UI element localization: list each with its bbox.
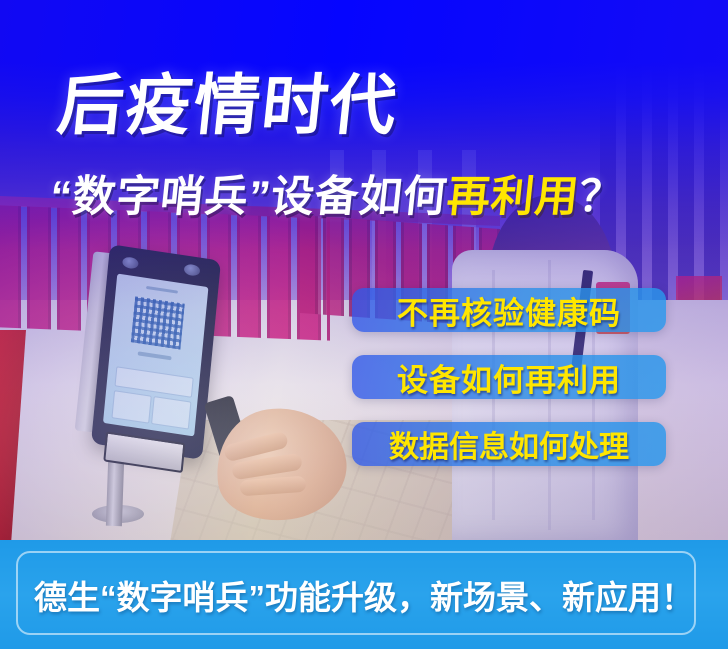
- topic-pill-3-label: 数据信息如何处理: [352, 422, 666, 466]
- qr-code: [131, 296, 185, 349]
- banner-text: 德生“数字哨兵”功能升级，新场景、新应用！: [0, 540, 728, 649]
- subtitle-highlight: 再利用: [445, 173, 582, 221]
- topic-pill-1[interactable]: 不再核验健康码: [352, 288, 666, 332]
- topic-pill-1-label: 不再核验健康码: [352, 288, 666, 332]
- page-subtitle: “数字哨兵”设备如何再利用？: [48, 176, 626, 219]
- topic-pill-list: 不再核验健康码 设备如何再利用 数据信息如何处理: [352, 288, 666, 489]
- page-title: 后疫情时代: [55, 72, 402, 138]
- bottom-banner: 德生“数字哨兵”功能升级，新场景、新应用！: [0, 540, 728, 649]
- kiosk-camera: [122, 256, 139, 269]
- subtitle-suffix: ？: [577, 173, 626, 221]
- kiosk-touchscreen: [103, 274, 208, 437]
- topic-pill-3[interactable]: 数据信息如何处理: [352, 422, 666, 466]
- subtitle-prefix: “数字哨兵”设备如何: [48, 173, 450, 221]
- topic-pill-2[interactable]: 设备如何再利用: [352, 355, 666, 399]
- poster-root: 后疫情时代 “数字哨兵”设备如何再利用？ 不再核验健康码 设备如何再利用 数据信…: [0, 0, 728, 649]
- kiosk-ir-sensor: [184, 263, 201, 276]
- kiosk-terminal: [91, 244, 221, 460]
- topic-pill-2-label: 设备如何再利用: [352, 355, 666, 399]
